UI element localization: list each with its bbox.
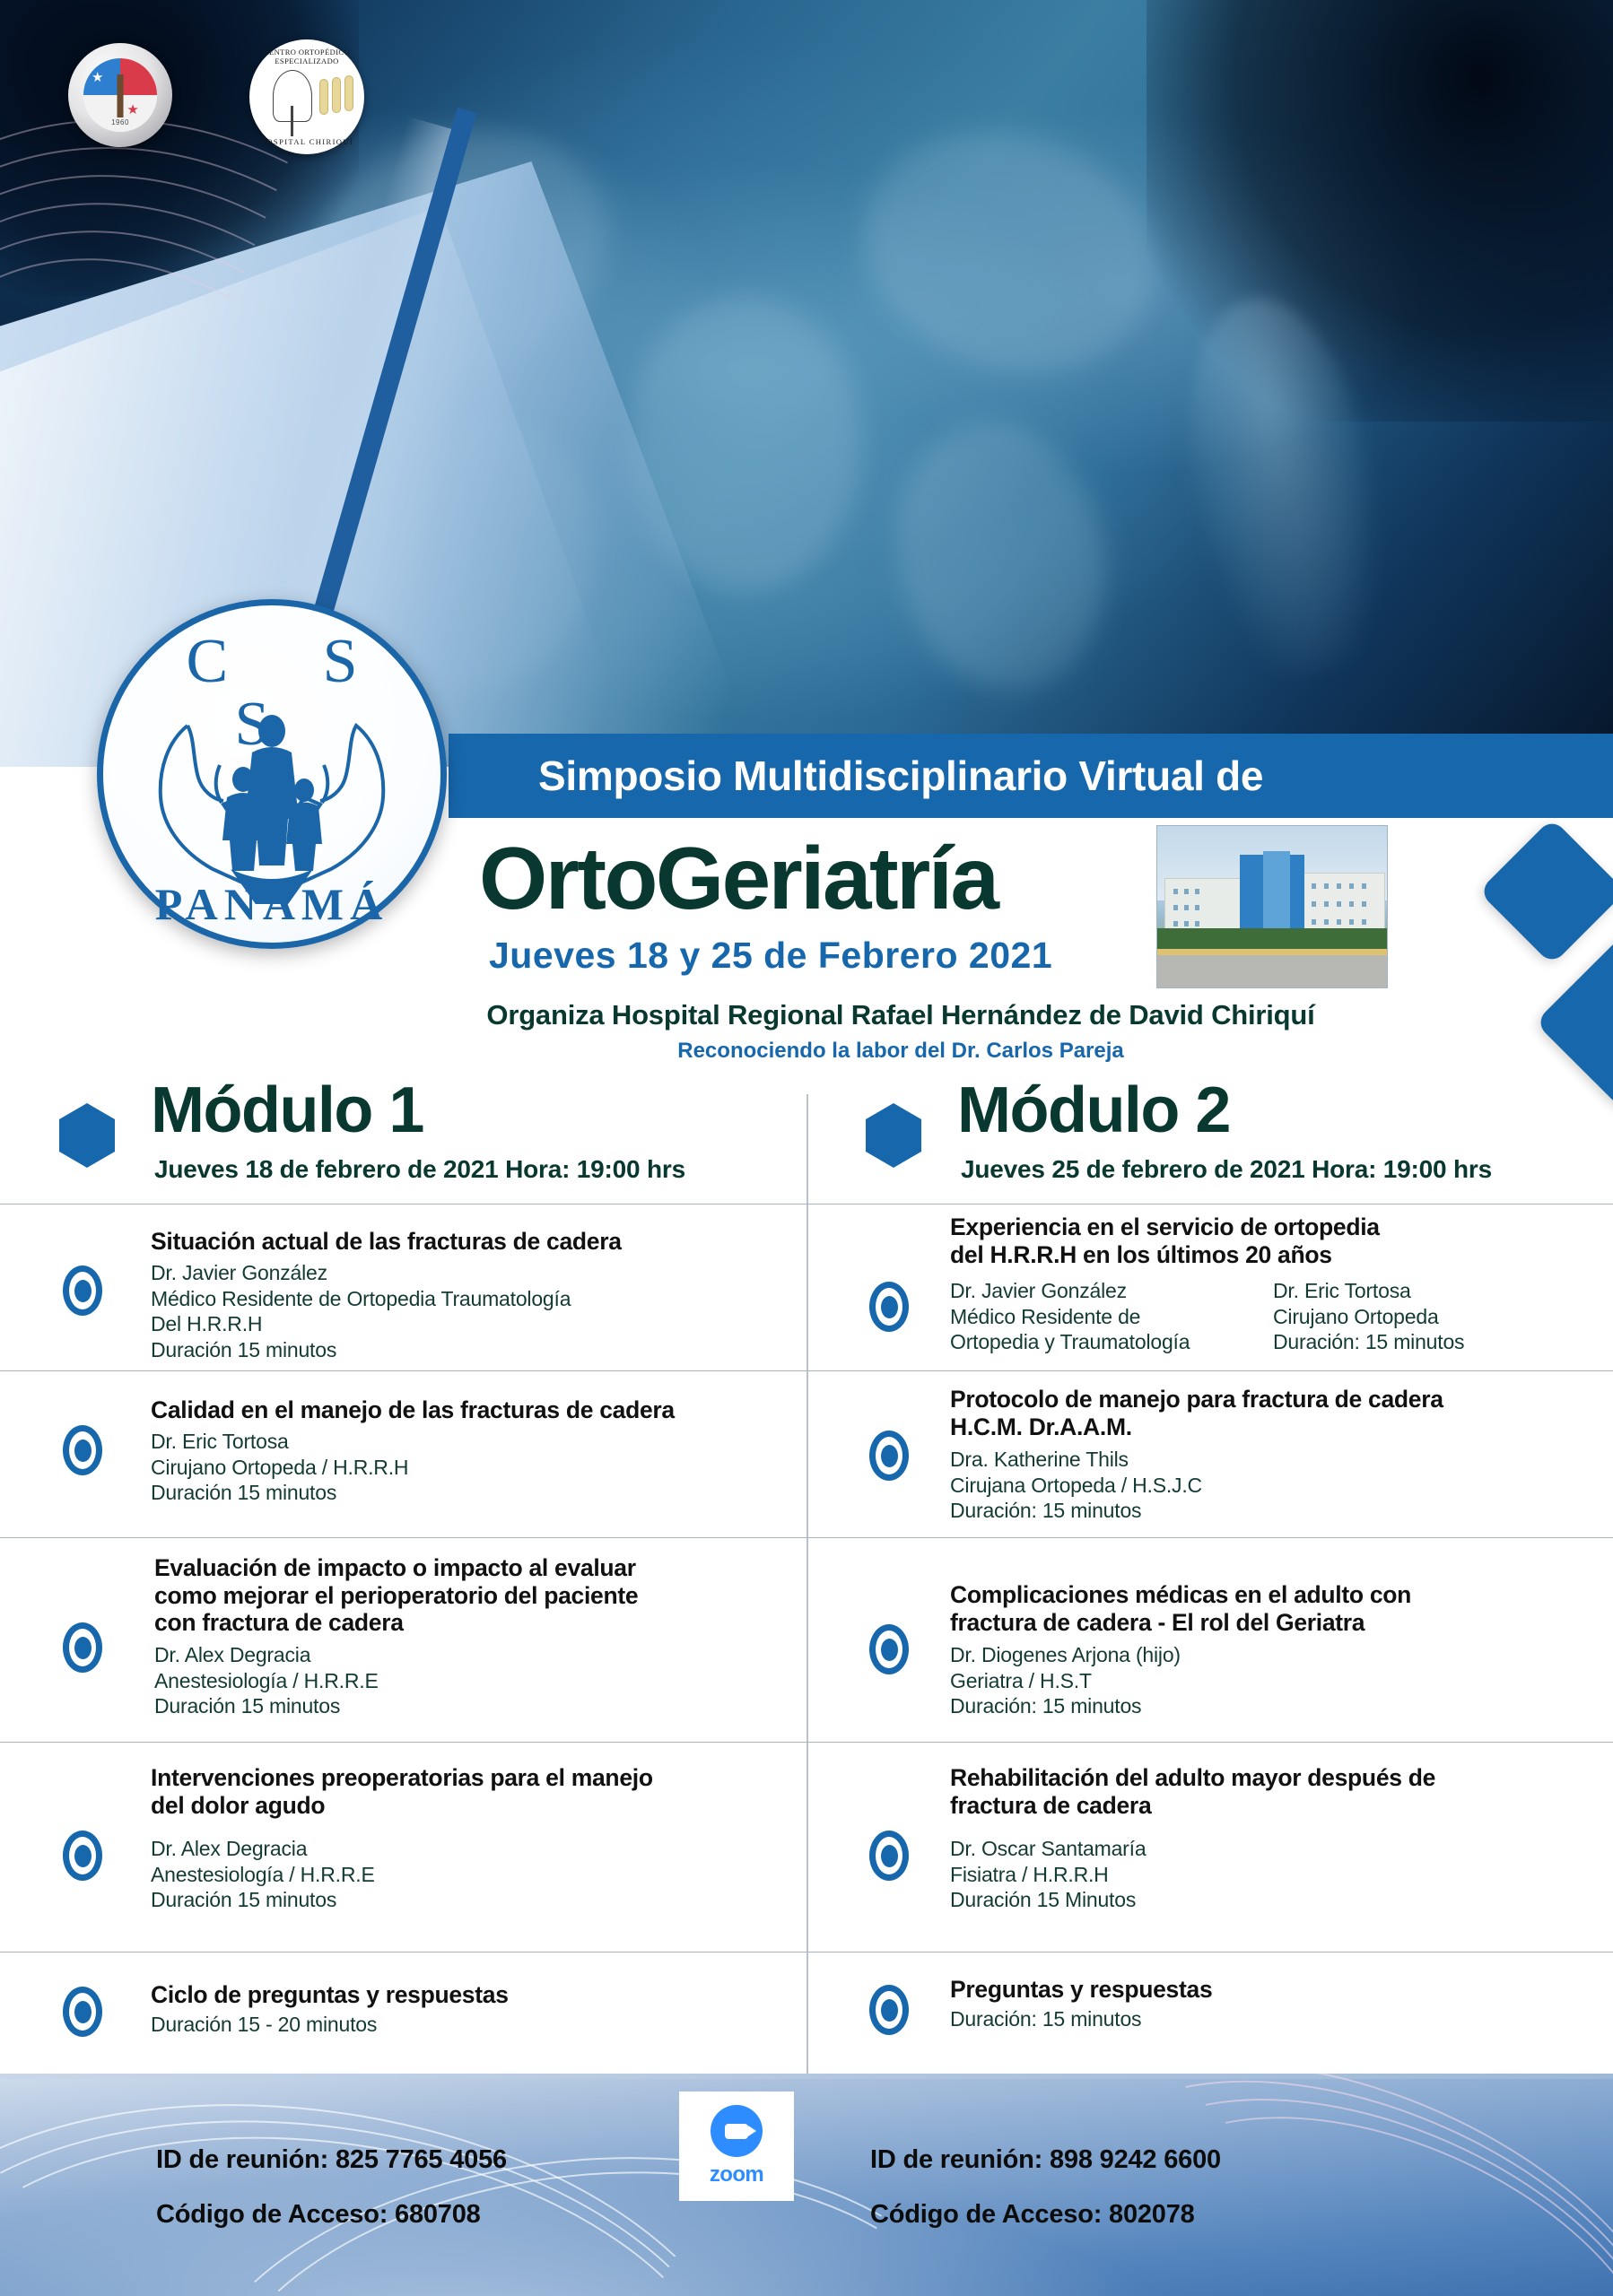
session-title: Ciclo de preguntas y respuestas xyxy=(151,1981,779,2009)
module-date: Jueves 25 de febrero de 2021 Hora: 19:00… xyxy=(961,1155,1492,1184)
session-bullet-icon xyxy=(63,1265,102,1316)
session-bullet-icon xyxy=(869,1431,909,1481)
module-title: Módulo 1 xyxy=(151,1078,423,1143)
hospital-building-photo xyxy=(1156,825,1388,988)
photo-window xyxy=(1349,883,1354,889)
session-speaker: Dr. Javier González Médico Residente de … xyxy=(151,1260,770,1362)
session-title: Evaluación de impacto o impacto al evalu… xyxy=(154,1554,782,1637)
logo-ring-bottom-text: HOSPITAL CHIRIQUÍ xyxy=(249,137,364,146)
session-item[interactable]: Protocolo de manejo para fractura de cad… xyxy=(806,1370,1613,1537)
photo-window xyxy=(1324,883,1329,889)
session-bullet-icon xyxy=(869,1985,909,2035)
meeting-info-module-2: ID de reunión: 898 9242 6600 Código de A… xyxy=(870,2145,1221,2230)
photo-window xyxy=(1184,905,1189,910)
session-speaker: Duración 15 - 20 minutos xyxy=(151,2012,779,2038)
bone-icon xyxy=(332,77,341,113)
photo-window xyxy=(1184,889,1189,894)
session-bullet-icon xyxy=(63,1831,102,1881)
session-title: Intervenciones preoperatorias para el ma… xyxy=(151,1764,779,1819)
session-item[interactable]: Ciclo de preguntas y respuestas Duración… xyxy=(0,1952,806,2088)
session-bullet-icon xyxy=(63,1987,102,2037)
event-dates: Jueves 18 y 25 de Febrero 2021 xyxy=(489,935,1052,977)
photo-hedge xyxy=(1157,928,1387,950)
css-country-label: PANAMÁ xyxy=(103,878,440,930)
bone-icon xyxy=(344,75,353,111)
access-code: Código de Acceso: 802078 xyxy=(870,2200,1221,2230)
photo-window xyxy=(1362,883,1366,889)
session-item[interactable]: Complicaciones médicas en el adulto con … xyxy=(806,1537,1613,1742)
module-column-1: Módulo 1 Jueves 18 de febrero de 2021 Ho… xyxy=(0,1069,806,2088)
logo-emblem: CENTRO ORTOPÉDICO ESPECIALIZADO HOSPITAL… xyxy=(249,39,364,154)
session-speaker: Dr. Alex Degracia Anestesiología / H.R.R… xyxy=(154,1642,782,1719)
photo-window xyxy=(1349,901,1354,907)
module-header: Módulo 2 Jueves 25 de febrero de 2021 Ho… xyxy=(806,1069,1613,1204)
tree-trunk-icon xyxy=(291,106,293,136)
session-item[interactable]: Evaluación de impacto o impacto al evalu… xyxy=(0,1537,806,1742)
session-speaker: Dr. Alex Degracia Anestesiología / H.R.R… xyxy=(151,1836,779,1913)
css-panama-logo: C S S PANAMÁ xyxy=(97,599,447,949)
zoom-logo[interactable]: zoom xyxy=(679,2092,794,2201)
photo-window xyxy=(1173,921,1178,926)
photo-window xyxy=(1312,883,1316,889)
session-title: Rehabilitación del adulto mayor después … xyxy=(950,1764,1578,1819)
session-speaker: Dr. Oscar Santamaría Fisiatra / H.R.R.H … xyxy=(950,1836,1578,1913)
photo-window xyxy=(1337,883,1341,889)
session-bullet-icon xyxy=(869,1282,909,1332)
logo-ring-top-text: CENTRO ORTOPÉDICO ESPECIALIZADO xyxy=(249,48,364,65)
session-speaker: Dr. Eric Tortosa Cirujano Ortopeda / H.R… xyxy=(151,1429,770,1506)
photo-window xyxy=(1362,901,1366,907)
session-title: Protocolo de manejo para fractura de cad… xyxy=(950,1386,1578,1440)
session-item[interactable]: Experiencia en el servicio de ortopedia … xyxy=(806,1204,1613,1370)
decorative-diamond xyxy=(1478,818,1613,965)
session-item[interactable]: Situación actual de las fracturas de cad… xyxy=(0,1204,806,1370)
session-item[interactable]: Preguntas y respuestas Duración: 15 minu… xyxy=(806,1952,1613,2088)
hexagon-bullet-icon xyxy=(866,1103,921,1168)
session-title: Complicaciones médicas en el adulto con … xyxy=(950,1581,1578,1636)
photo-window xyxy=(1324,901,1329,907)
session-title: Calidad en el manejo de las fracturas de… xyxy=(151,1396,770,1424)
photo-road xyxy=(1157,955,1387,987)
session-item[interactable]: Calidad en el manejo de las fracturas de… xyxy=(0,1370,806,1537)
band-title-text: Simposio Multidisciplinario Virtual de xyxy=(538,752,1263,800)
band-rounded-tip xyxy=(1591,734,1613,818)
photo-window xyxy=(1337,901,1341,907)
session-title: Situación actual de las fracturas de cad… xyxy=(151,1228,770,1256)
session-bullet-icon xyxy=(869,1624,909,1674)
photo-window xyxy=(1195,905,1199,910)
hexagon-bullet-icon xyxy=(59,1103,115,1168)
session-item[interactable]: Intervenciones preoperatorias para el ma… xyxy=(0,1742,806,1952)
module-title: Módulo 2 xyxy=(957,1078,1230,1143)
logo-year: 1960 xyxy=(83,118,157,126)
photo-window xyxy=(1173,889,1178,894)
meeting-id: ID de reunión: 898 9242 6600 xyxy=(870,2145,1221,2175)
meeting-id: ID de reunión: 825 7765 4056 xyxy=(156,2145,507,2175)
session-speaker-secondary: Dr. Eric Tortosa Cirujano Ortopeda Durac… xyxy=(1273,1278,1596,1355)
session-speaker: Dr. Diogenes Arjona (hijo) Geriatra / H.… xyxy=(950,1642,1578,1719)
camera-glyph xyxy=(725,2124,748,2139)
photo-window xyxy=(1362,919,1366,925)
session-speaker: Dra. Katherine Thils Cirujana Ortopeda /… xyxy=(950,1447,1578,1524)
photo-window xyxy=(1195,921,1199,926)
photo-window xyxy=(1337,919,1341,925)
session-bullet-icon xyxy=(63,1622,102,1673)
photo-window xyxy=(1195,889,1199,894)
flag-quadrant-red xyxy=(120,58,157,95)
module-column-2: Módulo 2 Jueves 25 de febrero de 2021 Ho… xyxy=(806,1069,1613,2088)
agenda-grid: Módulo 1 Jueves 18 de febrero de 2021 Ho… xyxy=(0,1069,1613,2088)
recognition-line: Reconociendo la labor del Dr. Carlos Par… xyxy=(0,1039,1613,1064)
tree-trunk-icon xyxy=(118,74,124,117)
title-band: Simposio Multidisciplinario Virtual de xyxy=(449,734,1613,818)
access-code: Código de Acceso: 680708 xyxy=(156,2200,507,2230)
page-title: OrtoGeriatría xyxy=(479,834,997,922)
photo-window xyxy=(1349,919,1354,925)
photo-window xyxy=(1312,919,1316,925)
photo-window xyxy=(1173,905,1178,910)
organizer-line: Organiza Hospital Regional Rafael Hernán… xyxy=(0,999,1613,1031)
logo-artwork xyxy=(266,65,350,129)
zoom-wordmark: zoom xyxy=(710,2162,763,2187)
session-title: Preguntas y respuestas xyxy=(950,1976,1578,2004)
photo-window xyxy=(1184,921,1189,926)
xray-bone-shape xyxy=(833,94,1186,407)
session-speaker: Duración: 15 minutos xyxy=(950,2006,1578,2032)
logo-emblem: ★ ★ 1960 xyxy=(83,58,157,132)
xray-bone-shape xyxy=(871,403,1129,709)
session-bullet-icon xyxy=(869,1831,909,1881)
session-speaker: Dr. Javier González Médico Residente de … xyxy=(950,1278,1273,1355)
sociedad-panamena-ortopedia-logo: ★ ★ 1960 xyxy=(68,43,172,147)
module-date: Jueves 18 de febrero de 2021 Hora: 19:00… xyxy=(154,1155,685,1184)
session-item[interactable]: Rehabilitación del adulto mayor después … xyxy=(806,1742,1613,1952)
flag-quadrant-blue: ★ xyxy=(83,58,120,95)
session-bullet-icon xyxy=(63,1425,102,1475)
photo-window xyxy=(1312,901,1316,907)
bone-icon xyxy=(319,79,328,115)
centro-ortopedico-especializado-logo: CENTRO ORTOPÉDICO ESPECIALIZADO HOSPITAL… xyxy=(249,39,364,154)
video-camera-icon xyxy=(711,2105,763,2157)
hands-family-icon xyxy=(137,711,406,904)
photo-window xyxy=(1324,919,1329,925)
module-header: Módulo 1 Jueves 18 de febrero de 2021 Ho… xyxy=(0,1069,806,1204)
session-title: Experiencia en el servicio de ortopedia … xyxy=(950,1213,1578,1268)
meeting-info-module-1: ID de reunión: 825 7765 4056 Código de A… xyxy=(156,2145,507,2230)
